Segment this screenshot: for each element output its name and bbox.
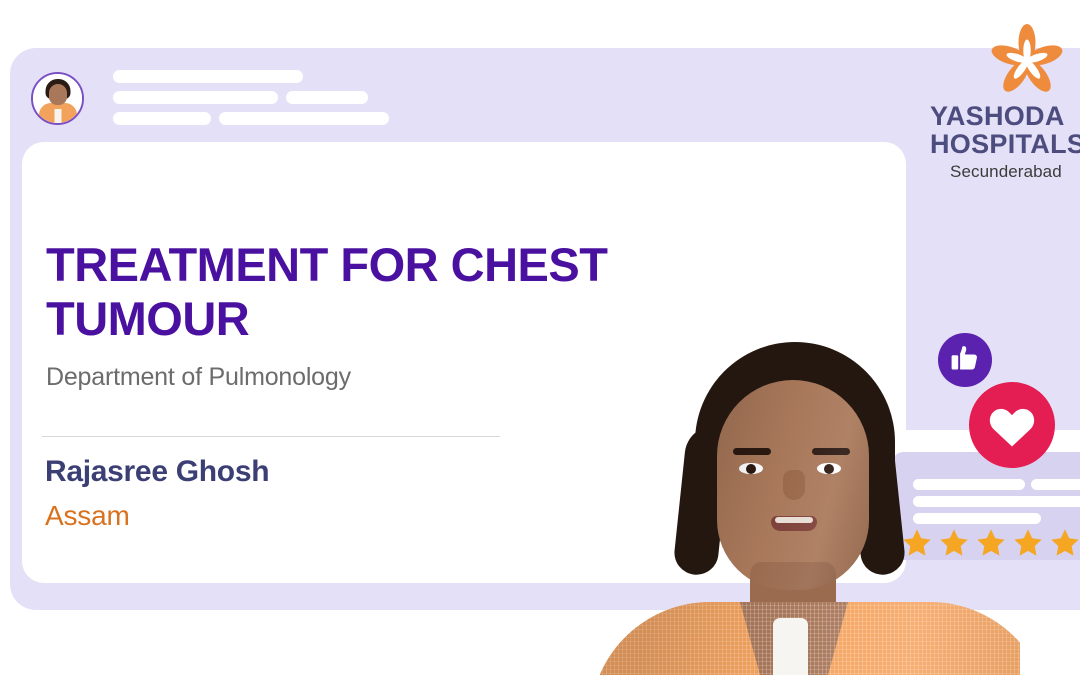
- photo-face-shading: [717, 380, 869, 590]
- patient-avatar[interactable]: [31, 72, 84, 125]
- avatar-neck: [54, 109, 61, 123]
- review-bar: [1031, 479, 1080, 490]
- skeleton-bar: [286, 91, 368, 104]
- star-icon[interactable]: [1048, 526, 1080, 560]
- department-subtitle: Department of Pulmonology: [46, 363, 351, 392]
- skeleton-row: [113, 70, 413, 83]
- brand-name-line2: HOSPITALS: [930, 130, 1080, 158]
- avatar-face: [49, 84, 67, 105]
- photo-shirt-shading: [600, 602, 1020, 675]
- patient-name: Rajasree Ghosh: [45, 455, 269, 489]
- thumbs-up-icon[interactable]: [938, 333, 992, 387]
- skeleton-bar: [113, 91, 278, 104]
- patient-location: Assam: [45, 500, 130, 532]
- brand-location: Secunderabad: [950, 162, 1080, 182]
- skeleton-bar: [113, 70, 303, 83]
- testimonial-canvas: TREATMENT FOR CHEST TUMOUR Department of…: [0, 0, 1080, 675]
- flower-icon: [988, 24, 1066, 98]
- page-title: TREATMENT FOR CHEST TUMOUR: [46, 238, 666, 346]
- brand-logo: YASHODA HOSPITALS Secunderabad: [930, 24, 1080, 182]
- skeleton-row: [113, 91, 413, 104]
- header-skeleton: [113, 70, 413, 133]
- skeleton-bar: [219, 112, 389, 125]
- heart-icon[interactable]: [969, 382, 1055, 468]
- skeleton-row: [113, 112, 413, 125]
- photo-gauze-dressing: [773, 618, 808, 675]
- brand-name-line1: YASHODA: [930, 102, 1080, 130]
- skeleton-bar: [113, 112, 211, 125]
- divider: [42, 436, 500, 437]
